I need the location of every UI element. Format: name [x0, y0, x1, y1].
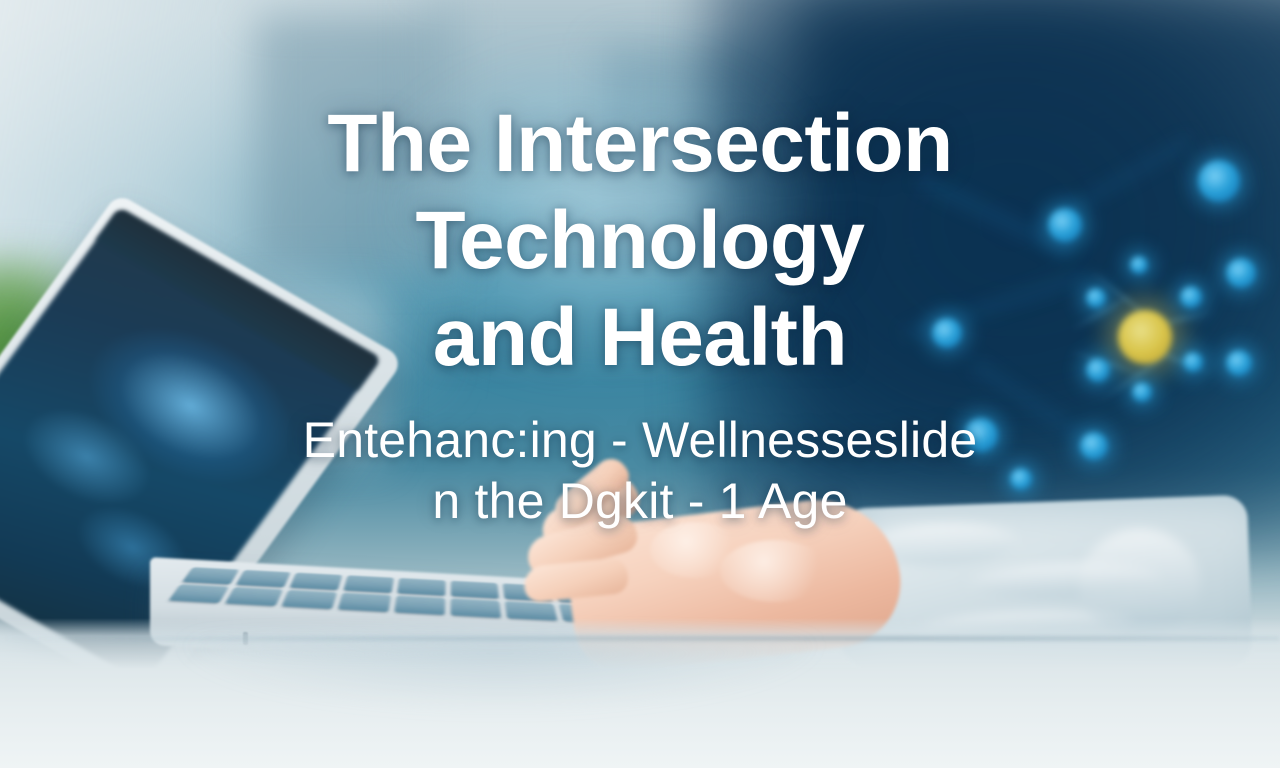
- presentation-slide: The Intersection Technology and Health E…: [0, 0, 1280, 768]
- slide-title: The Intersection Technology and Health: [190, 96, 1090, 386]
- slide-subtitle: Entehanc:ing - Wellnesseslide n the Dgki…: [110, 410, 1170, 532]
- slide-title-line-1: The Intersection: [190, 96, 1090, 193]
- slide-subtitle-line-2: n the Dgkit - 1 Age: [110, 471, 1170, 532]
- slide-title-line-3: and Health: [190, 290, 1090, 387]
- slide-text-block: The Intersection Technology and Health E…: [0, 0, 1280, 768]
- slide-title-line-2: Technology: [190, 193, 1090, 290]
- slide-subtitle-line-1: Entehanc:ing - Wellnesseslide: [110, 410, 1170, 471]
